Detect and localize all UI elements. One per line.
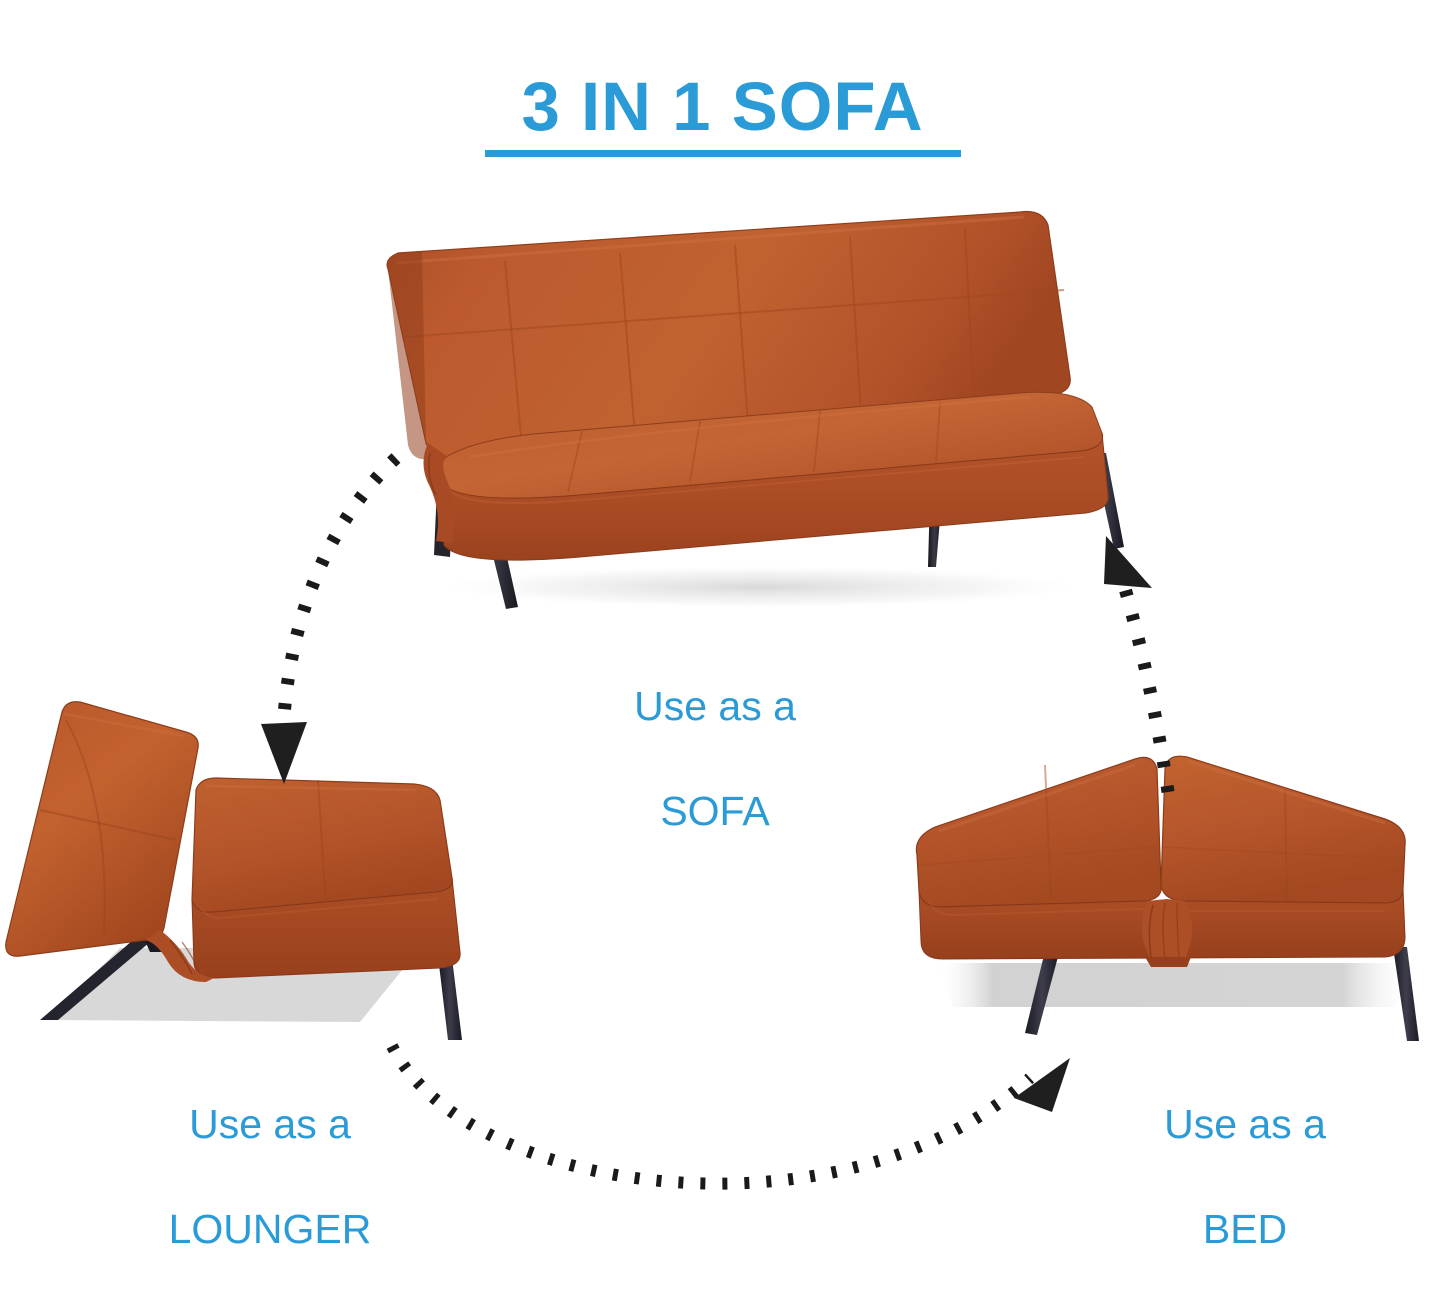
caption-bed: Use as a BED — [1075, 1046, 1415, 1308]
caption-lounger-line2: LOUNGER — [75, 1203, 465, 1255]
caption-lounger-line1: Use as a — [75, 1098, 465, 1150]
caption-sofa-line2: SOFA — [530, 785, 900, 837]
infographic-canvas: 3 IN 1 SOFA — [0, 0, 1445, 1275]
arrow-bed-to-sofa — [1104, 536, 1168, 792]
caption-sofa: Use as a SOFA — [530, 628, 900, 890]
caption-lounger: Use as a LOUNGER — [75, 1046, 465, 1308]
arrow-sofa-to-lounger — [261, 458, 396, 784]
caption-sofa-line1: Use as a — [530, 680, 900, 732]
caption-bed-line2: BED — [1075, 1203, 1415, 1255]
caption-bed-line1: Use as a — [1075, 1098, 1415, 1150]
arrow-lounger-to-bed — [392, 1046, 1070, 1184]
